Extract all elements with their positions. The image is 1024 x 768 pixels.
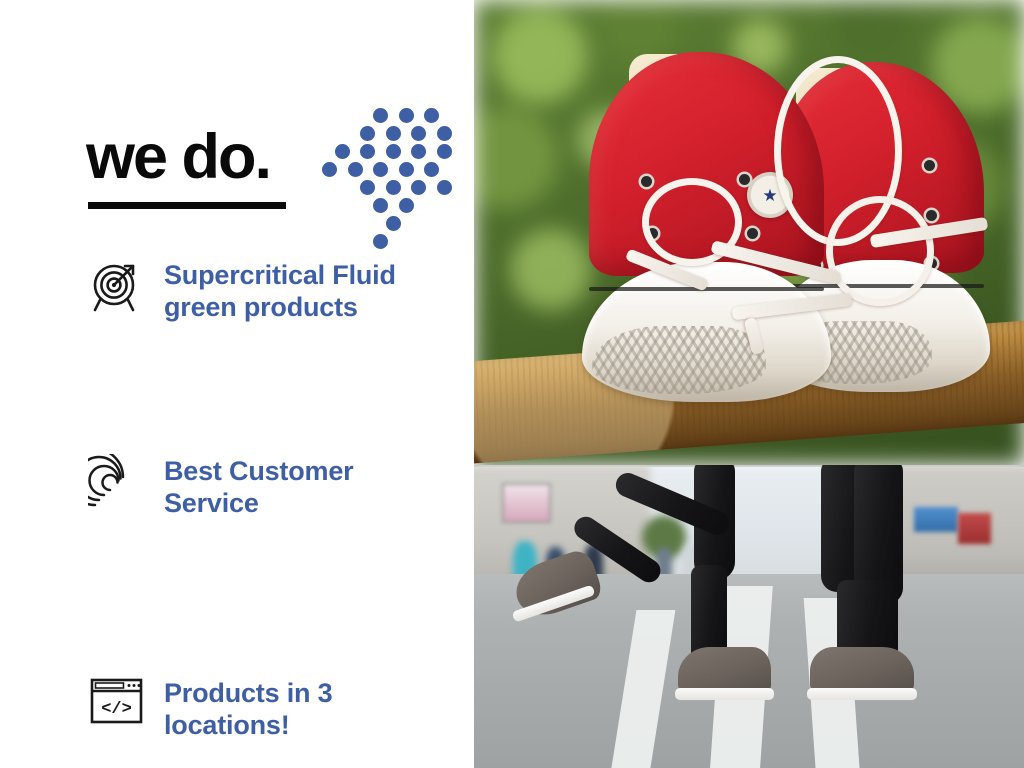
code-window-icon: </> bbox=[86, 670, 148, 732]
feature-label: Supercritical Fluid green products bbox=[164, 256, 396, 323]
logo-dot bbox=[360, 144, 375, 159]
star-glyph: ★ bbox=[762, 187, 777, 204]
feature-label-line2: green products bbox=[164, 292, 396, 324]
logo-dot bbox=[360, 126, 375, 141]
logo-dot bbox=[399, 108, 414, 123]
blue-street-sign bbox=[914, 507, 958, 531]
billboard-sign bbox=[502, 483, 552, 522]
sneaker-sole bbox=[675, 688, 774, 700]
brand-header: we do. bbox=[86, 108, 456, 238]
feature-label-line1: Best Customer bbox=[164, 456, 353, 488]
logo-dot bbox=[437, 180, 452, 195]
logo-dot bbox=[373, 198, 388, 213]
feature-label-line1: Products in 3 bbox=[164, 678, 332, 710]
red-street-sign bbox=[958, 513, 991, 543]
feature-item-supercritical-fluid: Supercritical Fluid green products bbox=[86, 256, 396, 323]
logo-dot bbox=[424, 162, 439, 177]
eyelet bbox=[739, 174, 750, 185]
shoelace-loop bbox=[826, 196, 934, 306]
slide-root: we do. Supercriti bbox=[0, 0, 1024, 768]
couple-legs-crosswalk-photo bbox=[474, 465, 1024, 768]
feature-label: Products in 3 locations! bbox=[164, 670, 332, 741]
feature-label-line2: Service bbox=[164, 488, 353, 520]
eyelet bbox=[924, 160, 935, 171]
logo-dot bbox=[399, 162, 414, 177]
target-arrow-icon bbox=[86, 256, 148, 318]
logo-dot bbox=[335, 144, 350, 159]
feature-item-locations: </> Products in 3 locations! bbox=[86, 670, 332, 741]
logo-dot bbox=[424, 108, 439, 123]
logo-dot bbox=[386, 126, 401, 141]
logo-dot bbox=[386, 216, 401, 231]
logo-dot bbox=[437, 144, 452, 159]
feature-item-customer-service: Best Customer Service bbox=[86, 452, 353, 519]
eyelet bbox=[641, 176, 652, 187]
photo-column: ★ bbox=[474, 0, 1024, 768]
logo-dot bbox=[411, 144, 426, 159]
feature-label-line1: Supercritical Fluid bbox=[164, 260, 396, 292]
logo-dot bbox=[411, 126, 426, 141]
logo-dot bbox=[322, 162, 337, 177]
logo-dot bbox=[399, 198, 414, 213]
eyelet bbox=[926, 210, 937, 221]
sneaker-sole bbox=[807, 688, 917, 700]
feature-label: Best Customer Service bbox=[164, 452, 353, 519]
logo-dot bbox=[360, 180, 375, 195]
logo-dot bbox=[437, 126, 452, 141]
logo-dot bbox=[386, 144, 401, 159]
red-high-top-sneakers-photo: ★ bbox=[474, 0, 1024, 465]
brand-wordmark: we do. bbox=[86, 126, 270, 189]
svg-text:</>: </> bbox=[101, 700, 132, 719]
brand-underline-rule bbox=[88, 202, 286, 209]
logo-dot bbox=[411, 180, 426, 195]
logo-dot bbox=[348, 162, 363, 177]
logo-dot bbox=[386, 180, 401, 195]
dotted-arrow-logo-icon bbox=[322, 108, 452, 238]
eyelet bbox=[747, 228, 758, 239]
feature-label-line2: locations! bbox=[164, 710, 332, 742]
logo-dot bbox=[373, 234, 388, 249]
ear-soundwave-icon bbox=[86, 452, 148, 514]
left-content-panel: we do. Supercriti bbox=[0, 0, 474, 768]
logo-dot bbox=[373, 162, 388, 177]
logo-dot bbox=[373, 108, 388, 123]
